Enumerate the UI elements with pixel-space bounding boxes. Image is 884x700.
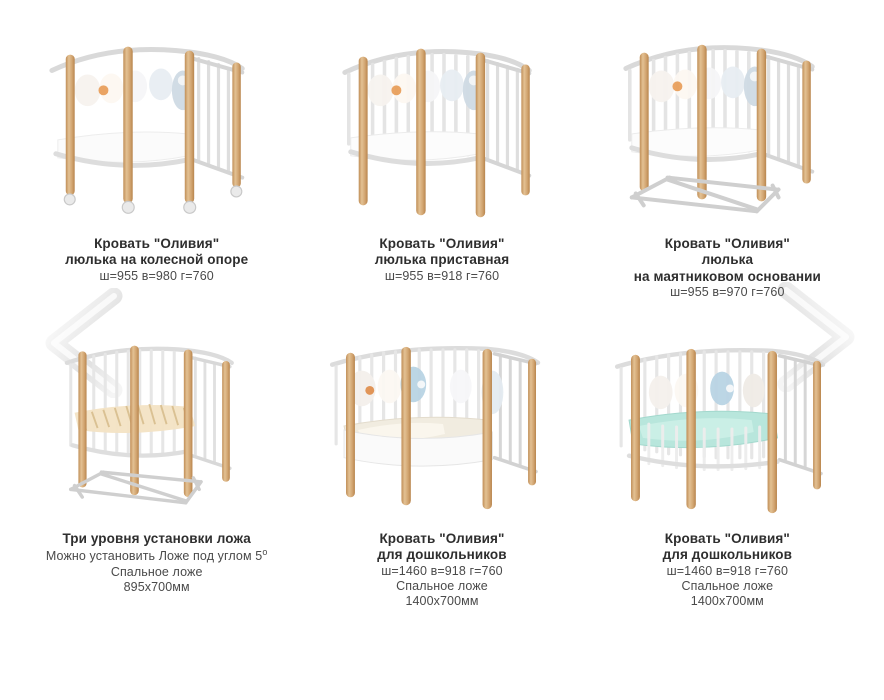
product-sheet: Кровать "Оливия" люлька на колесной опор…	[0, 0, 884, 700]
caption-line-3: ш=1460 в=918 г=760	[663, 564, 792, 579]
caption-line-2: люлька приставная	[375, 252, 510, 268]
product-image-cradle-wheeled	[14, 18, 299, 228]
caption-cradle-bedside: Кровать "Оливия" люлька приставная ш=955…	[375, 236, 510, 284]
product-image-cradle-bedside	[299, 18, 584, 228]
caption-preschool-mint: Кровать "Оливия" для дошкольников ш=1460…	[663, 531, 792, 610]
caption-line-2: люлька на колесной опоре	[65, 252, 248, 268]
product-card-cradle-bedside[interactable]: Кровать "Оливия" люлька приставная ш=955…	[299, 18, 584, 338]
caption-line-3: на маятниковом основании	[634, 269, 821, 285]
product-image-three-levels	[14, 338, 299, 523]
product-card-cradle-wheeled[interactable]: Кровать "Оливия" люлька на колесной опор…	[14, 18, 299, 338]
caption-line-3: ш=1460 в=918 г=760	[377, 564, 506, 579]
caption-line-2: люлька	[634, 252, 821, 268]
caption-line-1: Три уровня установки ложа	[46, 531, 268, 547]
product-card-cradle-pendulum[interactable]: Кровать "Оливия" люлька на маятниковом о…	[585, 18, 870, 338]
caption-line-1: Кровать "Оливия"	[634, 236, 821, 252]
caption-line-5: 1400х700мм	[377, 594, 506, 609]
caption-line-4: Спальное ложе	[377, 579, 506, 594]
caption-line-3: ш=955 в=918 г=760	[375, 269, 510, 284]
caption-preschool-cream: Кровать "Оливия" для дошкольников ш=1460…	[377, 531, 506, 610]
caption-line-5: 1400х700мм	[663, 594, 792, 609]
caption-cradle-wheeled: Кровать "Оливия" люлька на колесной опор…	[65, 236, 248, 284]
caption-three-levels: Три уровня установки ложа Можно установи…	[46, 531, 268, 595]
caption-line-2: для дошкольников	[663, 547, 792, 563]
product-image-preschool-cream	[299, 338, 584, 523]
caption-cradle-pendulum: Кровать "Оливия" люлька на маятниковом о…	[634, 236, 821, 301]
caption-line-4: 895х700мм	[46, 580, 268, 595]
product-image-cradle-pendulum	[585, 18, 870, 228]
caption-line-3: ш=955 в=980 г=760	[65, 269, 248, 284]
caption-line-1: Кровать "Оливия"	[375, 236, 510, 252]
product-card-three-levels[interactable]: Три уровня установки ложа Можно установи…	[14, 338, 299, 658]
caption-line-4: ш=955 в=970 г=760	[634, 285, 821, 300]
caption-line-2-text: Можно установить Ложе под углом 5	[46, 550, 262, 564]
product-card-preschool-cream[interactable]: Кровать "Оливия" для дошкольников ш=1460…	[299, 338, 584, 658]
caption-line-1: Кровать "Оливия"	[65, 236, 248, 252]
caption-line-2: для дошкольников	[377, 547, 506, 563]
caption-line-3: Спальное ложе	[46, 565, 268, 580]
degree-symbol: o	[262, 547, 267, 557]
caption-line-4: Спальное ложе	[663, 579, 792, 594]
product-card-preschool-mint[interactable]: Кровать "Оливия" для дошкольников ш=1460…	[585, 338, 870, 658]
product-image-preschool-mint	[585, 338, 870, 523]
product-grid: Кровать "Оливия" люлька на колесной опор…	[0, 0, 884, 700]
caption-line-1: Кровать "Оливия"	[663, 531, 792, 547]
caption-line-1: Кровать "Оливия"	[377, 531, 506, 547]
caption-line-2: Можно установить Ложе под углом 5o	[46, 547, 268, 564]
